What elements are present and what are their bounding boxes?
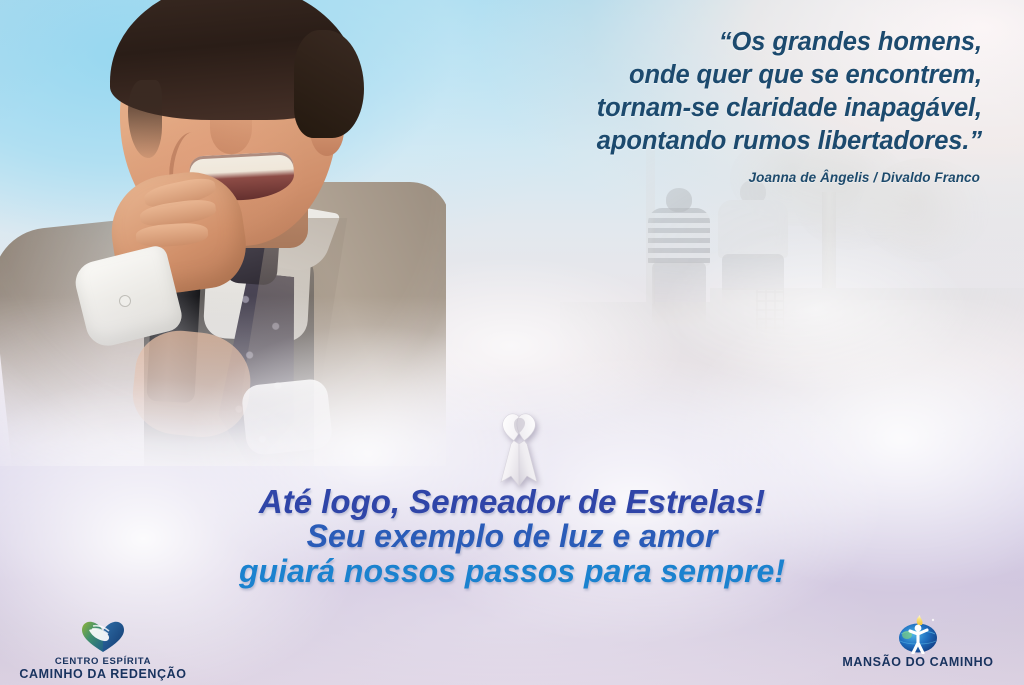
logo-left-line-2: CAMINHO DA REDENÇÃO [8, 668, 198, 680]
headline: Até logo, Semeador de Estrelas! Seu exem… [0, 484, 1024, 589]
quote-attribution: Joanna de Ângelis / Divaldo Franco [420, 170, 980, 185]
globe-figure-icon [896, 614, 940, 654]
quote-line-3: tornam-se claridade inapagável, [422, 92, 982, 125]
headline-line-3: guiará nossos passos para sempre! [0, 554, 1024, 589]
quote-text: “Os grandes homens, onde quer que se enc… [422, 26, 982, 158]
portrait-fade-overlay [0, 296, 474, 486]
background-person-striped-shirt [648, 188, 710, 354]
quote-line-2: onde quer que se encontrem, [422, 59, 982, 92]
logo-mansao-do-caminho: MANSÃO DO CAMINHO [818, 614, 1018, 668]
background-person-white-shirt [718, 180, 788, 356]
portrait-photo [0, 0, 446, 466]
person-legs [652, 262, 707, 348]
hair-side [294, 30, 364, 138]
headline-line-2: Seu exemplo de luz e amor [0, 519, 1024, 554]
person-torso [718, 200, 788, 258]
background-photo [560, 140, 1024, 440]
logo-right-line-1: MANSÃO DO CAMINHO [818, 656, 1018, 668]
headline-line-1: Até logo, Semeador de Estrelas! [0, 484, 1024, 519]
quote-line-1: “Os grandes homens, [422, 26, 982, 59]
logo-centro-espirita-caminho-da-redencao: CENTRO ESPÍRITA CAMINHO DA REDENÇÃO [8, 620, 198, 680]
white-mourning-ribbon-icon [487, 410, 551, 490]
background-tree-trunk [822, 192, 836, 302]
person-legs [722, 254, 784, 340]
hands-heart-icon [80, 620, 126, 654]
memorial-poster: “Os grandes homens, onde quer que se enc… [0, 0, 1024, 685]
quote-line-4: apontando rumos libertadores.” [422, 125, 982, 158]
person-torso [648, 208, 710, 266]
